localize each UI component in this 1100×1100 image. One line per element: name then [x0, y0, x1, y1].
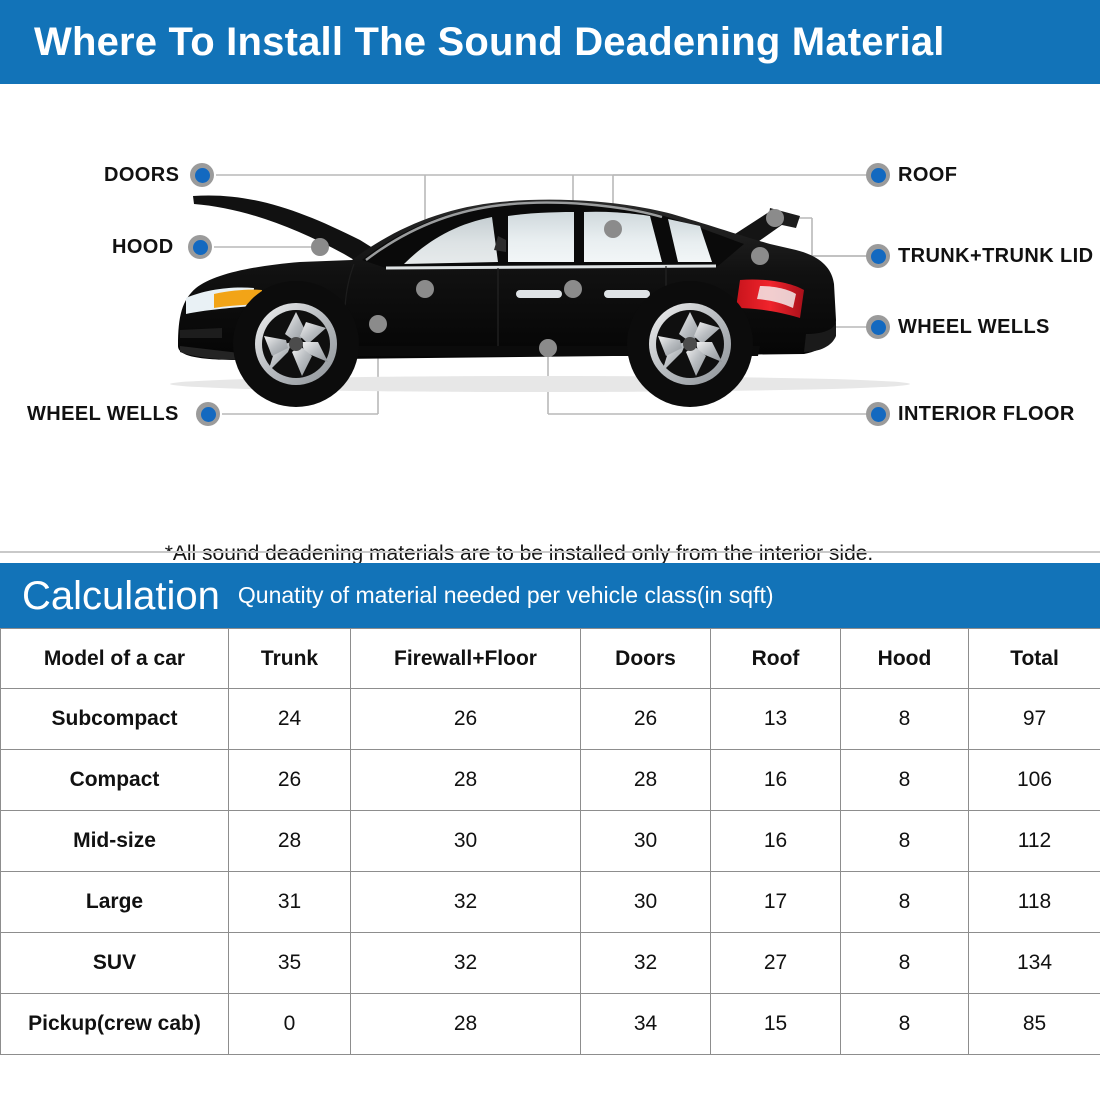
cell-trunk: 28: [229, 811, 351, 872]
table-header-row: Model of a car Trunk Firewall+Floor Door…: [1, 629, 1100, 689]
section-divider: [0, 551, 1100, 553]
cell-hood: 8: [841, 811, 969, 872]
car-diagram: DOORS HOOD WHEEL WELLS ROOF TRUNK+TRUNK …: [0, 84, 1100, 544]
col-header-firewall-floor: Firewall+Floor: [351, 629, 581, 689]
infographic-page: Where To Install The Sound Deadening Mat…: [0, 0, 1100, 1100]
label-hood: HOOD: [112, 237, 174, 257]
col-header-trunk: Trunk: [229, 629, 351, 689]
col-header-hood: Hood: [841, 629, 969, 689]
cell-firewall-floor: 32: [351, 872, 581, 933]
cell-model: Large: [1, 872, 229, 933]
cell-roof: 16: [711, 811, 841, 872]
label-wheel-wells-front: WHEEL WELLS: [27, 404, 179, 424]
cell-roof: 17: [711, 872, 841, 933]
col-header-doors: Doors: [581, 629, 711, 689]
cell-firewall-floor: 28: [351, 750, 581, 811]
cell-doors: 30: [581, 872, 711, 933]
cell-model: SUV: [1, 933, 229, 994]
table-row: Subcompact 24 26 26 13 8 97: [1, 689, 1100, 750]
table-row: Compact 26 28 28 16 8 106: [1, 750, 1100, 811]
marker-trunk: [866, 244, 890, 268]
table-row: Large 31 32 30 17 8 118: [1, 872, 1100, 933]
cell-total: 97: [969, 689, 1100, 750]
col-header-total: Total: [969, 629, 1100, 689]
cell-doors: 28: [581, 750, 711, 811]
cell-total: 134: [969, 933, 1100, 994]
label-trunk: TRUNK+TRUNK LID: [898, 246, 1093, 266]
cell-total: 118: [969, 872, 1100, 933]
cell-firewall-floor: 30: [351, 811, 581, 872]
cell-total: 112: [969, 811, 1100, 872]
marker-doors: [190, 163, 214, 187]
calculation-title: Calculation: [22, 576, 220, 616]
cell-model: Subcompact: [1, 689, 229, 750]
calculation-subtitle: Qunatity of material needed per vehicle …: [238, 584, 774, 607]
cell-roof: 15: [711, 994, 841, 1055]
page-title: Where To Install The Sound Deadening Mat…: [34, 20, 945, 65]
marker-interior-floor: [866, 402, 890, 426]
cell-doors: 26: [581, 689, 711, 750]
table-row: Pickup(crew cab) 0 28 34 15 8 85: [1, 994, 1100, 1055]
calculation-header: Calculation Qunatity of material needed …: [0, 563, 1100, 628]
col-header-model: Model of a car: [1, 629, 229, 689]
car-illustration-svg: [0, 84, 1100, 544]
cell-firewall-floor: 32: [351, 933, 581, 994]
cell-hood: 8: [841, 689, 969, 750]
cell-model: Pickup(crew cab): [1, 994, 229, 1055]
col-header-roof: Roof: [711, 629, 841, 689]
table-row: SUV 35 32 32 27 8 134: [1, 933, 1100, 994]
marker-hood: [188, 235, 212, 259]
label-interior-floor: INTERIOR FLOOR: [898, 404, 1075, 424]
cell-hood: 8: [841, 750, 969, 811]
marker-wheel-wells-front: [196, 402, 220, 426]
cell-trunk: 26: [229, 750, 351, 811]
cell-hood: 8: [841, 933, 969, 994]
cell-hood: 8: [841, 872, 969, 933]
cell-total: 85: [969, 994, 1100, 1055]
cell-doors: 34: [581, 994, 711, 1055]
front-wheel: [233, 281, 359, 407]
cell-model: Compact: [1, 750, 229, 811]
label-doors: DOORS: [104, 165, 179, 185]
label-wheel-wells-rear: WHEEL WELLS: [898, 317, 1050, 337]
table-row: Mid-size 28 30 30 16 8 112: [1, 811, 1100, 872]
cell-firewall-floor: 26: [351, 689, 581, 750]
label-roof: ROOF: [898, 165, 957, 185]
rear-wheel: [627, 281, 753, 407]
cell-model: Mid-size: [1, 811, 229, 872]
cell-roof: 13: [711, 689, 841, 750]
cell-firewall-floor: 28: [351, 994, 581, 1055]
cell-trunk: 35: [229, 933, 351, 994]
page-header: Where To Install The Sound Deadening Mat…: [0, 0, 1100, 84]
material-quantity-table: Model of a car Trunk Firewall+Floor Door…: [0, 628, 1100, 1055]
cell-trunk: 24: [229, 689, 351, 750]
cell-roof: 27: [711, 933, 841, 994]
cell-doors: 30: [581, 811, 711, 872]
cell-roof: 16: [711, 750, 841, 811]
cell-trunk: 0: [229, 994, 351, 1055]
marker-wheel-wells-rear: [866, 315, 890, 339]
cell-total: 106: [969, 750, 1100, 811]
cell-trunk: 31: [229, 872, 351, 933]
cell-doors: 32: [581, 933, 711, 994]
cell-hood: 8: [841, 994, 969, 1055]
marker-roof: [866, 163, 890, 187]
